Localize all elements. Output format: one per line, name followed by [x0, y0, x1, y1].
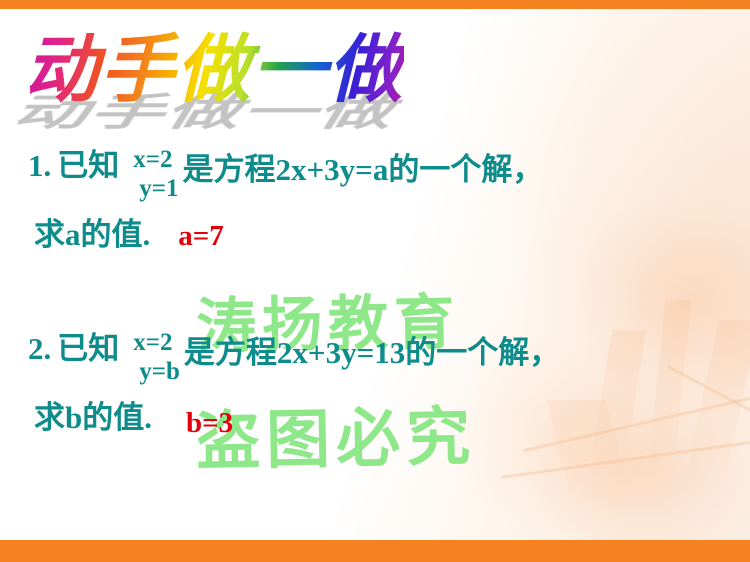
system-y-value: y=1 [139, 175, 178, 202]
slide-title: 动手做一做 动手做一做 [24, 24, 374, 116]
problem-lead: 已知 [57, 333, 119, 364]
problem-number: 1. [28, 150, 51, 181]
problem-statement-line: 2. 已知 x=2 y=b 是方程2x+3y=13的一个解， [28, 333, 728, 392]
problem-number: 2. [28, 333, 51, 364]
system-y-value: y=b [139, 358, 180, 385]
problem-lead: 已知 [57, 150, 119, 181]
problem-item: 2. 已知 x=2 y=b 是方程2x+3y=13的一个解， 求b的值. b=3 [28, 333, 728, 434]
system-x-value: x=2 [133, 146, 172, 173]
equation-system: x=2 y=1 [133, 146, 178, 200]
problem-statement-line: 1. 已知 x=2 y=1 是方程2x+3y=a的一个解， [28, 150, 728, 209]
problem-question-line: 求a的值. a=7 [34, 219, 728, 251]
background-diagonal [501, 434, 750, 479]
problem-question: 求a的值. [34, 219, 150, 250]
problem-question: 求b的值. [34, 402, 152, 433]
top-accent-bar [0, 0, 750, 9]
problem-answer: b=3 [186, 409, 233, 438]
problem-item: 1. 已知 x=2 y=1 是方程2x+3y=a的一个解， 求a的值. a=7 [28, 150, 728, 251]
bottom-accent-bar [0, 540, 750, 562]
title-text: 动手做一做 [24, 24, 404, 116]
problem-statement: 是方程2x+3y=a的一个解， [183, 154, 544, 185]
problem-answer: a=7 [178, 222, 224, 251]
system-x-value: x=2 [133, 329, 172, 356]
slide-canvas: 动手做一做 动手做一做 涛扬教育 盗图必究 1. 已知 x=2 y=1 是方程2… [0, 0, 750, 562]
problem-question-line: 求b的值. b=3 [34, 402, 728, 434]
problem-list: 1. 已知 x=2 y=1 是方程2x+3y=a的一个解， 求a的值. a=7 … [28, 150, 728, 434]
equation-system: x=2 y=b [133, 329, 180, 383]
problem-statement: 是方程2x+3y=13的一个解， [184, 337, 560, 368]
